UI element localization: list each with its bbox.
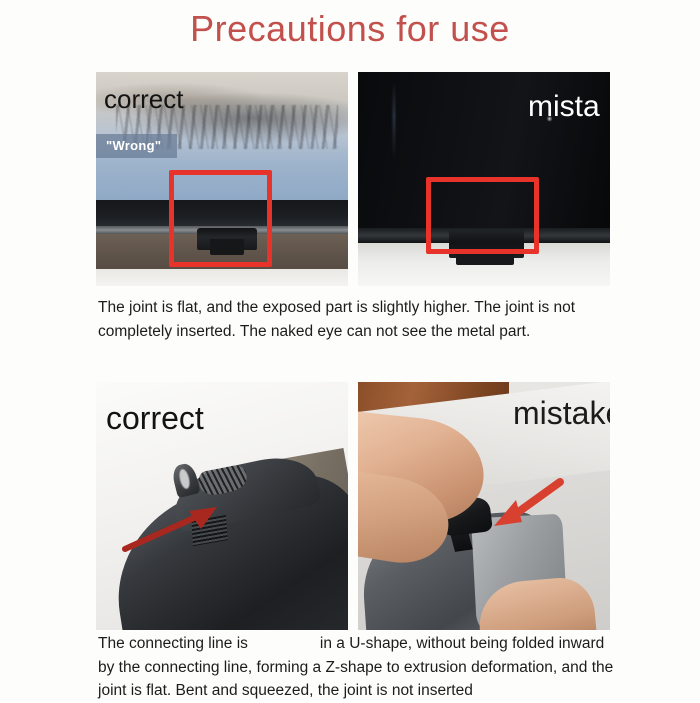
caption-top: The joint is flat, and the exposed part … [98, 296, 614, 343]
photo-panel-top-mistake: mista [358, 72, 610, 286]
figure-row-bottom: correct mistake [96, 382, 610, 630]
caption-bottom-part-1: The connecting line is [98, 635, 248, 652]
label-correct-bottom: correct [106, 400, 204, 437]
label-mistake-bottom: mistake [513, 395, 610, 432]
caption-bottom-part-2: in a U-shape, without being folded inwar… [320, 635, 604, 652]
label-mistake-top: mista [528, 90, 600, 124]
red-arrow-icon [484, 476, 566, 534]
caption-top-line-1: The joint is flat, and the exposed part … [98, 299, 549, 316]
photo-panel-bottom-correct: correct [96, 382, 348, 630]
red-arrow-icon [121, 499, 225, 555]
photo-panel-bottom-mistake: mistake [358, 382, 610, 630]
page-title: Precautions for use [0, 8, 700, 50]
red-rectangle-annotation [169, 170, 272, 266]
label-correct-top: correct [104, 84, 183, 115]
caption-bottom: The connecting line isin a U-shape, with… [98, 632, 614, 703]
red-rectangle-annotation [426, 177, 539, 254]
photo-panel-top-correct: "Wrong" correct [96, 72, 348, 286]
caption-bottom-line-2: by the connecting line, forming a Z-shap… [98, 659, 587, 676]
figure-row-top: "Wrong" correct mista [96, 72, 610, 286]
wrong-watermark-badge: "Wrong" [96, 134, 177, 158]
photo-floor [96, 269, 348, 286]
